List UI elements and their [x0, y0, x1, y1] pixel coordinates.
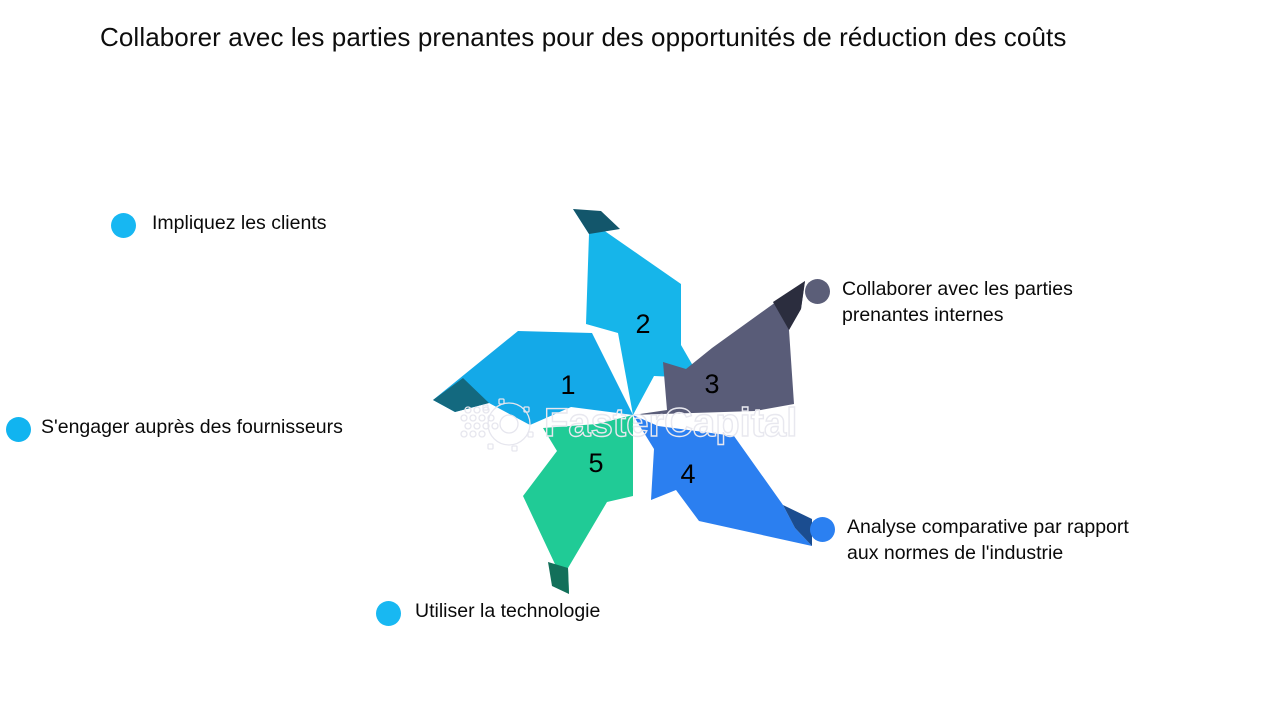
callout-supplier[interactable]: S'engager auprès des fournisseurs — [6, 415, 343, 442]
pinwheel-svg: 1 2 3 4 5 — [0, 0, 1280, 720]
callout-label: Analyse comparative par rapport aux norm… — [847, 515, 1129, 567]
petal-5-number: 5 — [588, 448, 603, 478]
callout-customers[interactable]: Impliquez les clients — [111, 211, 327, 238]
bullet-dot-icon — [6, 417, 31, 442]
callout-benchmarking[interactable]: Analyse comparative par rapport aux norm… — [810, 515, 1129, 567]
petal-4-body — [633, 415, 812, 546]
petal-2-number: 2 — [635, 309, 650, 339]
petal-4-number: 4 — [680, 459, 695, 489]
petal-3-number: 3 — [704, 369, 719, 399]
bullet-dot-icon — [805, 279, 830, 304]
petal-4[interactable]: 4 — [633, 415, 812, 546]
callout-label: Utiliser la technologie — [415, 599, 600, 625]
petal-5[interactable]: 5 — [523, 415, 633, 594]
callout-label: S'engager auprès des fournisseurs — [41, 415, 343, 441]
bullet-dot-icon — [111, 213, 136, 238]
callout-label: Collaborer avec les parties prenantes in… — [842, 277, 1073, 329]
bullet-dot-icon — [376, 601, 401, 626]
callout-label: Impliquez les clients — [152, 211, 327, 237]
petal-1-number: 1 — [560, 370, 575, 400]
pinwheel-diagram: 1 2 3 4 5 — [0, 0, 1280, 720]
bullet-dot-icon — [810, 517, 835, 542]
petal-5-body — [523, 415, 633, 594]
petal-1[interactable]: 1 — [433, 331, 633, 425]
petal-2-fold — [573, 209, 620, 234]
callout-internal-stakeholders[interactable]: Collaborer avec les parties prenantes in… — [805, 277, 1073, 329]
callout-technology[interactable]: Utiliser la technologie — [376, 599, 600, 626]
